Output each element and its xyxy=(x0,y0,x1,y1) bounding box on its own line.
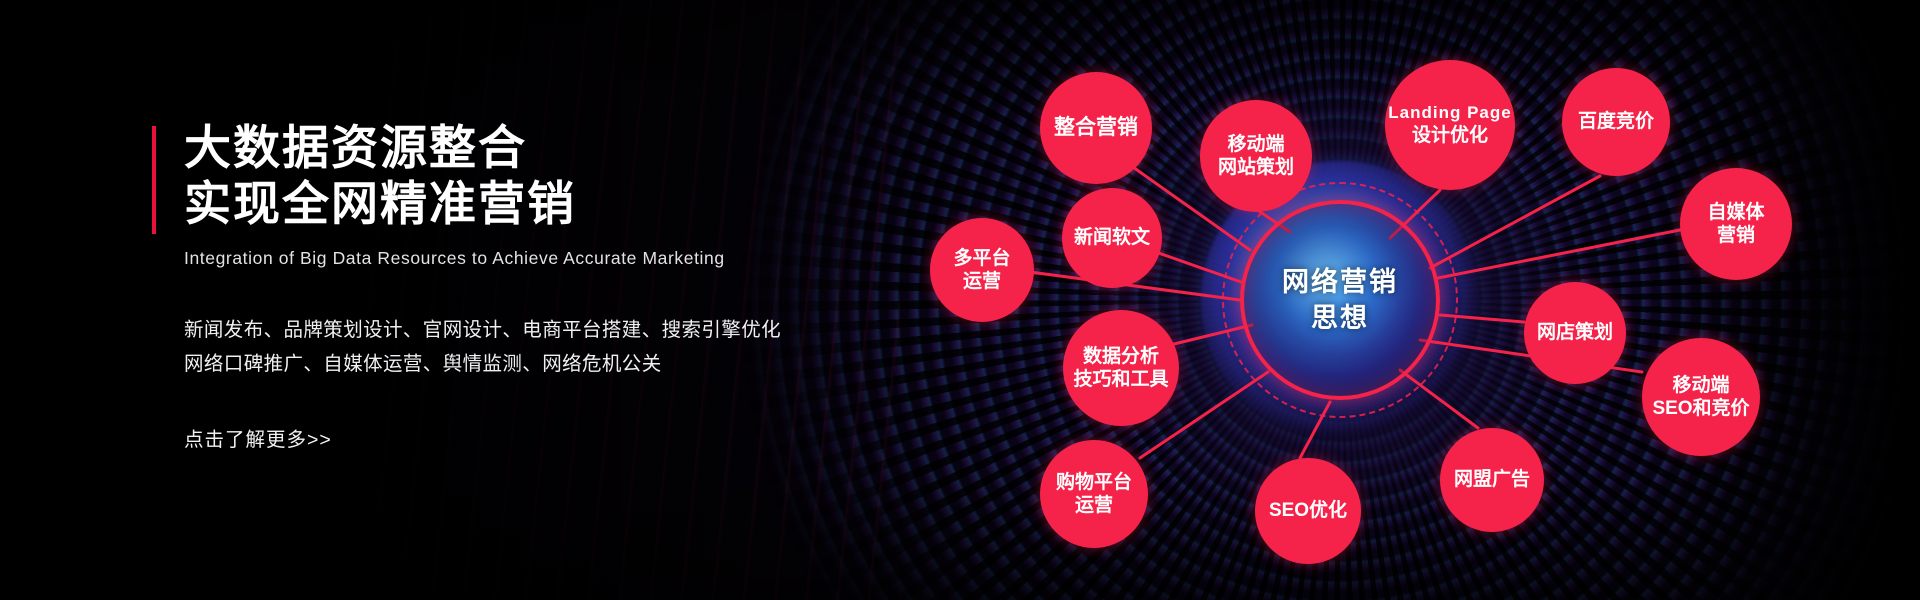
node-shopping-op-line-2: 运营 xyxy=(1075,494,1113,517)
subheadline: Integration of Big Data Resources to Ach… xyxy=(152,248,872,269)
copy-block: 大数据资源整合 实现全网精准营销 Integration of Big Data… xyxy=(152,120,872,452)
node-zimeiti[interactable]: 自媒体营销 xyxy=(1680,168,1792,280)
hub-node[interactable]: 网络营销 思想 xyxy=(1240,200,1440,400)
headline-line-2: 实现全网精准营销 xyxy=(184,176,872,232)
hub-line-2: 思想 xyxy=(1311,300,1369,336)
node-wangmeng-ad[interactable]: 网盟广告 xyxy=(1440,428,1544,532)
learn-more-link[interactable]: 点击了解更多>> xyxy=(152,423,332,452)
connector-baidu-ppc xyxy=(1430,176,1600,268)
headline-line-1: 大数据资源整合 xyxy=(184,120,872,176)
node-wangdian-line-1: 网店策划 xyxy=(1537,321,1613,344)
node-mobile-seo-line-1: 移动端 xyxy=(1672,374,1729,397)
node-seo-opt-line-1: SEO优化 xyxy=(1269,499,1347,522)
node-news-soft-line-1: 新闻软文 xyxy=(1074,226,1150,249)
node-mobile-seo[interactable]: 移动端SEO和竞价 xyxy=(1642,338,1760,456)
node-data-analyse-line-2: 技巧和工具 xyxy=(1073,368,1168,391)
node-landing-page-line-2: 设计优化 xyxy=(1412,124,1488,147)
headline-wrap: 大数据资源整合 实现全网精准营销 xyxy=(152,120,872,232)
body-line-1: 新闻发布、品牌策划设计、官网设计、电商平台搭建、搜索引擎优化 xyxy=(152,313,872,347)
node-zimeiti-line-1: 自媒体 xyxy=(1707,201,1764,224)
node-news-soft[interactable]: 新闻软文 xyxy=(1062,188,1162,288)
node-multi-plat[interactable]: 多平台运营 xyxy=(930,218,1034,322)
node-baidu-ppc[interactable]: 百度竞价 xyxy=(1562,68,1670,176)
node-seo-opt[interactable]: SEO优化 xyxy=(1255,458,1361,564)
node-data-analyse-line-1: 数据分析 xyxy=(1083,345,1159,368)
marketing-banner: 大数据资源整合 实现全网精准营销 Integration of Big Data… xyxy=(0,0,1920,600)
node-mobile-site-line-1: 移动端 xyxy=(1227,133,1284,156)
node-wangdian[interactable]: 网店策划 xyxy=(1524,282,1626,384)
node-shopping-op[interactable]: 购物平台运营 xyxy=(1040,440,1148,548)
node-landing-page[interactable]: Landing Page设计优化 xyxy=(1385,60,1515,190)
body-line-2: 网络口碑推广、自媒体运营、舆情监测、网络危机公关 xyxy=(152,347,872,381)
node-mobile-site-line-2: 网站策划 xyxy=(1218,156,1294,179)
node-multi-plat-line-1: 多平台 xyxy=(953,247,1010,270)
connector-zimeiti xyxy=(1438,230,1680,278)
node-zhenghe-line-1: 整合营销 xyxy=(1054,115,1138,141)
hub-line-1: 网络营销 xyxy=(1282,264,1398,300)
node-zhenghe[interactable]: 整合营销 xyxy=(1040,72,1152,184)
node-multi-plat-line-2: 运营 xyxy=(963,270,1001,293)
node-baidu-ppc-line-1: 百度竞价 xyxy=(1578,110,1654,133)
node-data-analyse[interactable]: 数据分析技巧和工具 xyxy=(1063,310,1179,426)
node-mobile-site[interactable]: 移动端网站策划 xyxy=(1200,100,1312,212)
node-shopping-op-line-1: 购物平台 xyxy=(1056,471,1132,494)
node-zimeiti-line-2: 营销 xyxy=(1717,224,1755,247)
accent-bar xyxy=(152,126,156,234)
node-wangmeng-ad-line-1: 网盟广告 xyxy=(1454,468,1530,491)
node-mobile-seo-line-2: SEO和竞价 xyxy=(1652,397,1749,420)
node-landing-page-line-1: Landing Page xyxy=(1388,103,1511,124)
